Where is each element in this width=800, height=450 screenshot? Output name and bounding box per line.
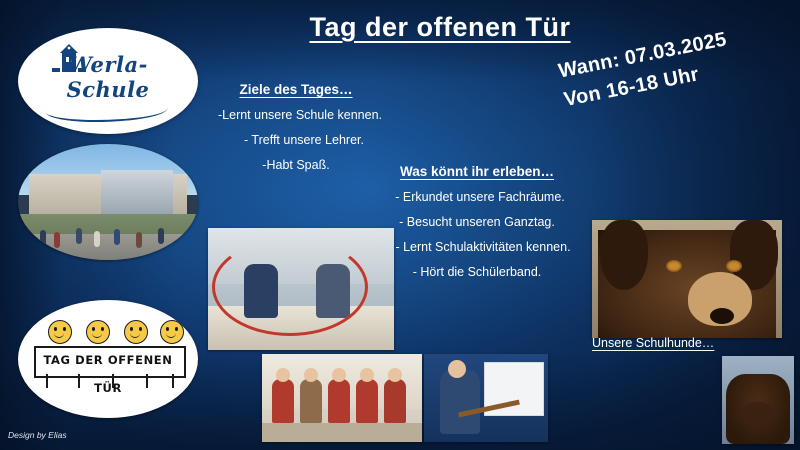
poster-slide: Tag der offenen Tür Werla- Schule [0,0,800,450]
photo-students-workshop [262,354,422,442]
photo-chemistry-lab [208,228,394,350]
experience-line-4: - Hört die Schülerband. [372,265,582,279]
goals-line-1: -Lernt unsere Schule kennen. [204,108,396,122]
logo-wordmark: Werla- Schule [18,52,198,102]
logo-line-1: Werla- [18,52,198,77]
banner-photo-text: TAG DER OFFENEN TÜR [34,346,182,374]
experience-block: Was könnt ihr erleben… - Erkundet unsere… [372,164,582,290]
photo-school-dog-2 [722,356,794,444]
goals-line-3: -Habt Spaß. [196,158,396,172]
goals-block: Ziele des Tages… -Lernt unsere Schule ke… [196,82,396,183]
goals-line-2: - Trefft unsere Lehrer. [212,133,396,147]
experience-line-3: - Lernt Schulaktivitäten kennen. [384,240,582,254]
experience-heading: Was könnt ihr erleben… [372,164,582,179]
page-title: Tag der offenen Tür [230,12,650,43]
werla-schule-logo: Werla- Schule [18,28,198,134]
photo-school-building [18,144,198,260]
experience-line-2: - Besucht unseren Ganztag. [372,215,582,229]
experience-line-1: - Erkundet unsere Fachräume. [378,190,582,204]
photo-guitar-player [424,354,548,442]
goals-heading: Ziele des Tages… [196,82,396,97]
logo-swoosh [46,98,168,122]
photo-open-day-banner: TAG DER OFFENEN TÜR [18,300,198,418]
photo-school-dog-1 [592,220,782,338]
design-credit: Design by Elias [8,430,67,440]
school-dogs-caption: Unsere Schulhunde… [592,336,714,350]
